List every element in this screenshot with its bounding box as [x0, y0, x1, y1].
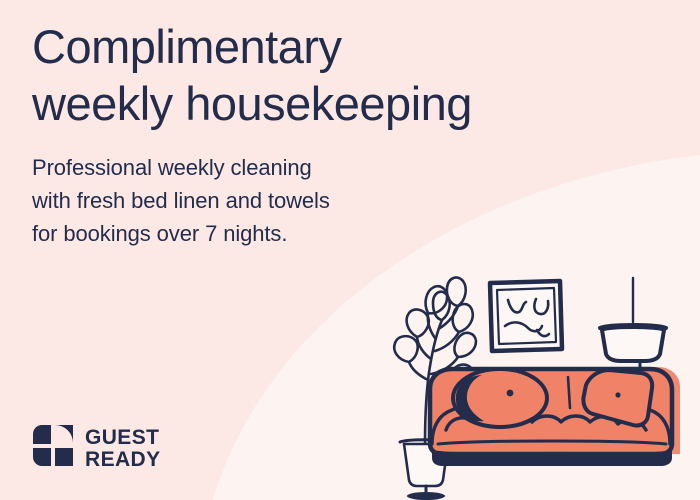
- promo-banner: Complimentary weekly housekeeping Profes…: [0, 0, 700, 500]
- pendant-lamp-graphic: [600, 278, 666, 380]
- logo-wordmark-line1: GUEST: [85, 427, 161, 449]
- framed-artwork-graphic: [490, 281, 562, 351]
- page-title: Complimentary weekly housekeeping: [32, 18, 632, 132]
- cat-graphic: [453, 369, 547, 427]
- living-room-illustration: [390, 258, 700, 500]
- page-subcopy: Professional weekly cleaning with fresh …: [32, 151, 632, 250]
- brand-logo: GUEST READY: [32, 424, 161, 473]
- guestready-logo-mark: [32, 424, 74, 473]
- logo-wordmark-line2: READY: [85, 449, 161, 471]
- logo-wordmark: GUEST READY: [85, 427, 161, 471]
- text-block: Complimentary weekly housekeeping Profes…: [32, 18, 632, 250]
